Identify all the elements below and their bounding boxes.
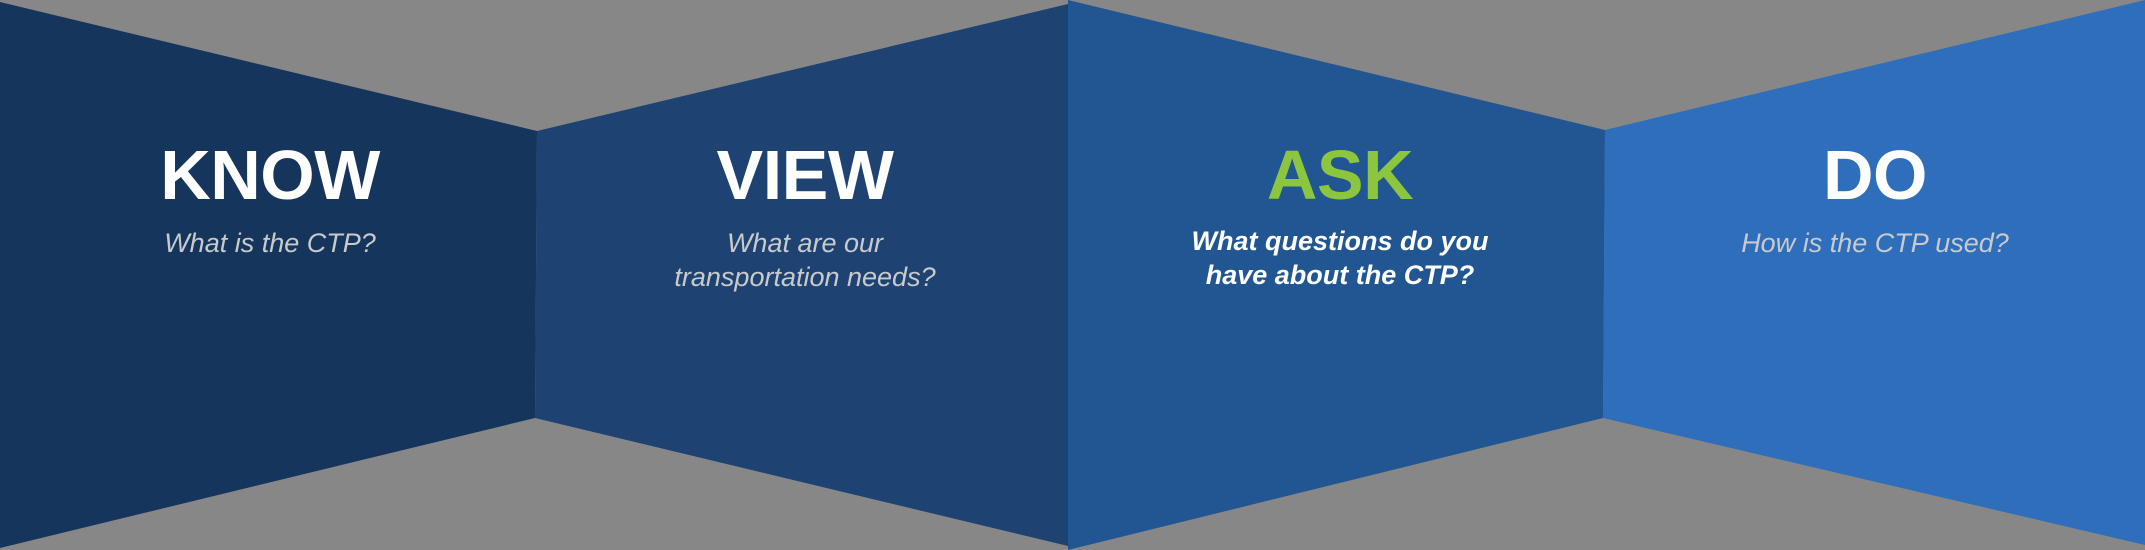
chevron-shapes <box>0 0 2145 550</box>
ctp-process-banner: KNOW What is the CTP? VIEW What are our … <box>0 0 2145 550</box>
